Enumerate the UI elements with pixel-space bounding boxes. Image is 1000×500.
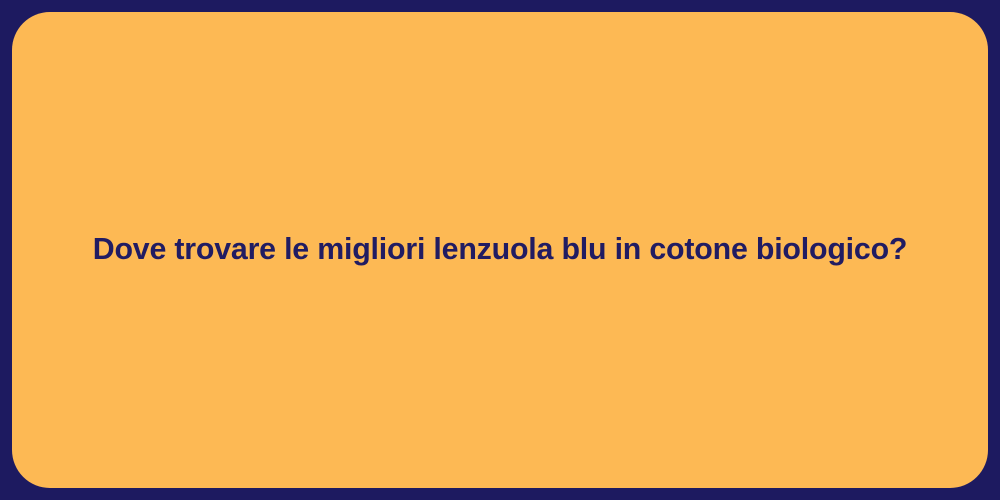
banner-headline: Dove trovare le migliori lenzuola blu in… (93, 231, 908, 269)
headline-container: Dove trovare le migliori lenzuola blu in… (12, 231, 988, 269)
banner-outer-frame: Dove trovare le migliori lenzuola blu in… (0, 0, 1000, 500)
banner-card: Dove trovare le migliori lenzuola blu in… (12, 12, 988, 488)
